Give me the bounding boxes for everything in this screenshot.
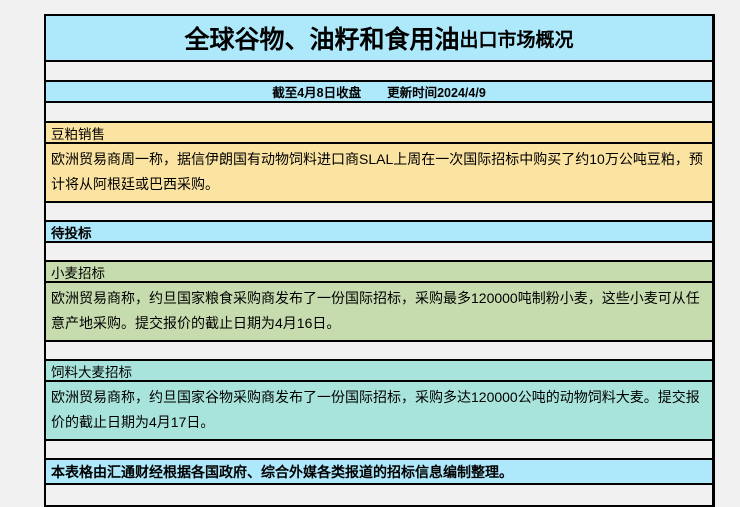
section-heading-barley-tender: 饲料大麦招标 (46, 361, 712, 382)
subtitle-update-time: 更新时间2024/4/9 (387, 82, 486, 101)
market-overview-table: 全球谷物、油籽和食用油出口市场概况 截至4月8日收盘 更新时间2024/4/9 … (44, 14, 715, 507)
page-title-primary: 全球谷物、油籽和食用油 (184, 20, 459, 56)
subtitle-bar: 截至4月8日收盘 更新时间2024/4/9 (46, 82, 712, 103)
section-heading-soymeal: 豆粕销售 (46, 123, 712, 144)
subtitle-close-date: 截至4月8日收盘 (272, 82, 361, 101)
spacer-row-5 (46, 342, 712, 361)
spacer-row-4 (46, 243, 712, 262)
spacer-row-6 (46, 441, 712, 460)
section-body-soymeal: 欧洲贸易商周一称，据信伊朗国有动物饲料进口商SLAL上周在一次国际招标中购买了约… (46, 144, 712, 203)
page-title: 全球谷物、油籽和食用油出口市场概况 (46, 16, 712, 62)
spacer-row-3 (46, 203, 712, 222)
section-body-barley-tender: 欧洲贸易商称，约旦国家谷物采购商发布了一份国际招标，采购多达120000公吨的动… (46, 382, 712, 441)
spacer-row-2 (46, 103, 712, 123)
page-title-secondary: 出口市场概况 (460, 25, 574, 52)
spacer-row-7 (46, 485, 712, 505)
section-heading-wheat-tender: 小麦招标 (46, 262, 712, 283)
section-body-wheat-tender: 欧洲贸易商称，约旦国家粮食采购商发布了一份国际招标，采购最多120000吨制粉小… (46, 283, 712, 342)
footer-note: 本表格由汇通财经根据各国政府、综合外媒各类报道的招标信息编制整理。 (46, 460, 712, 485)
section-heading-pending-tenders: 待投标 (46, 222, 712, 243)
spacer-row-1 (46, 62, 712, 82)
